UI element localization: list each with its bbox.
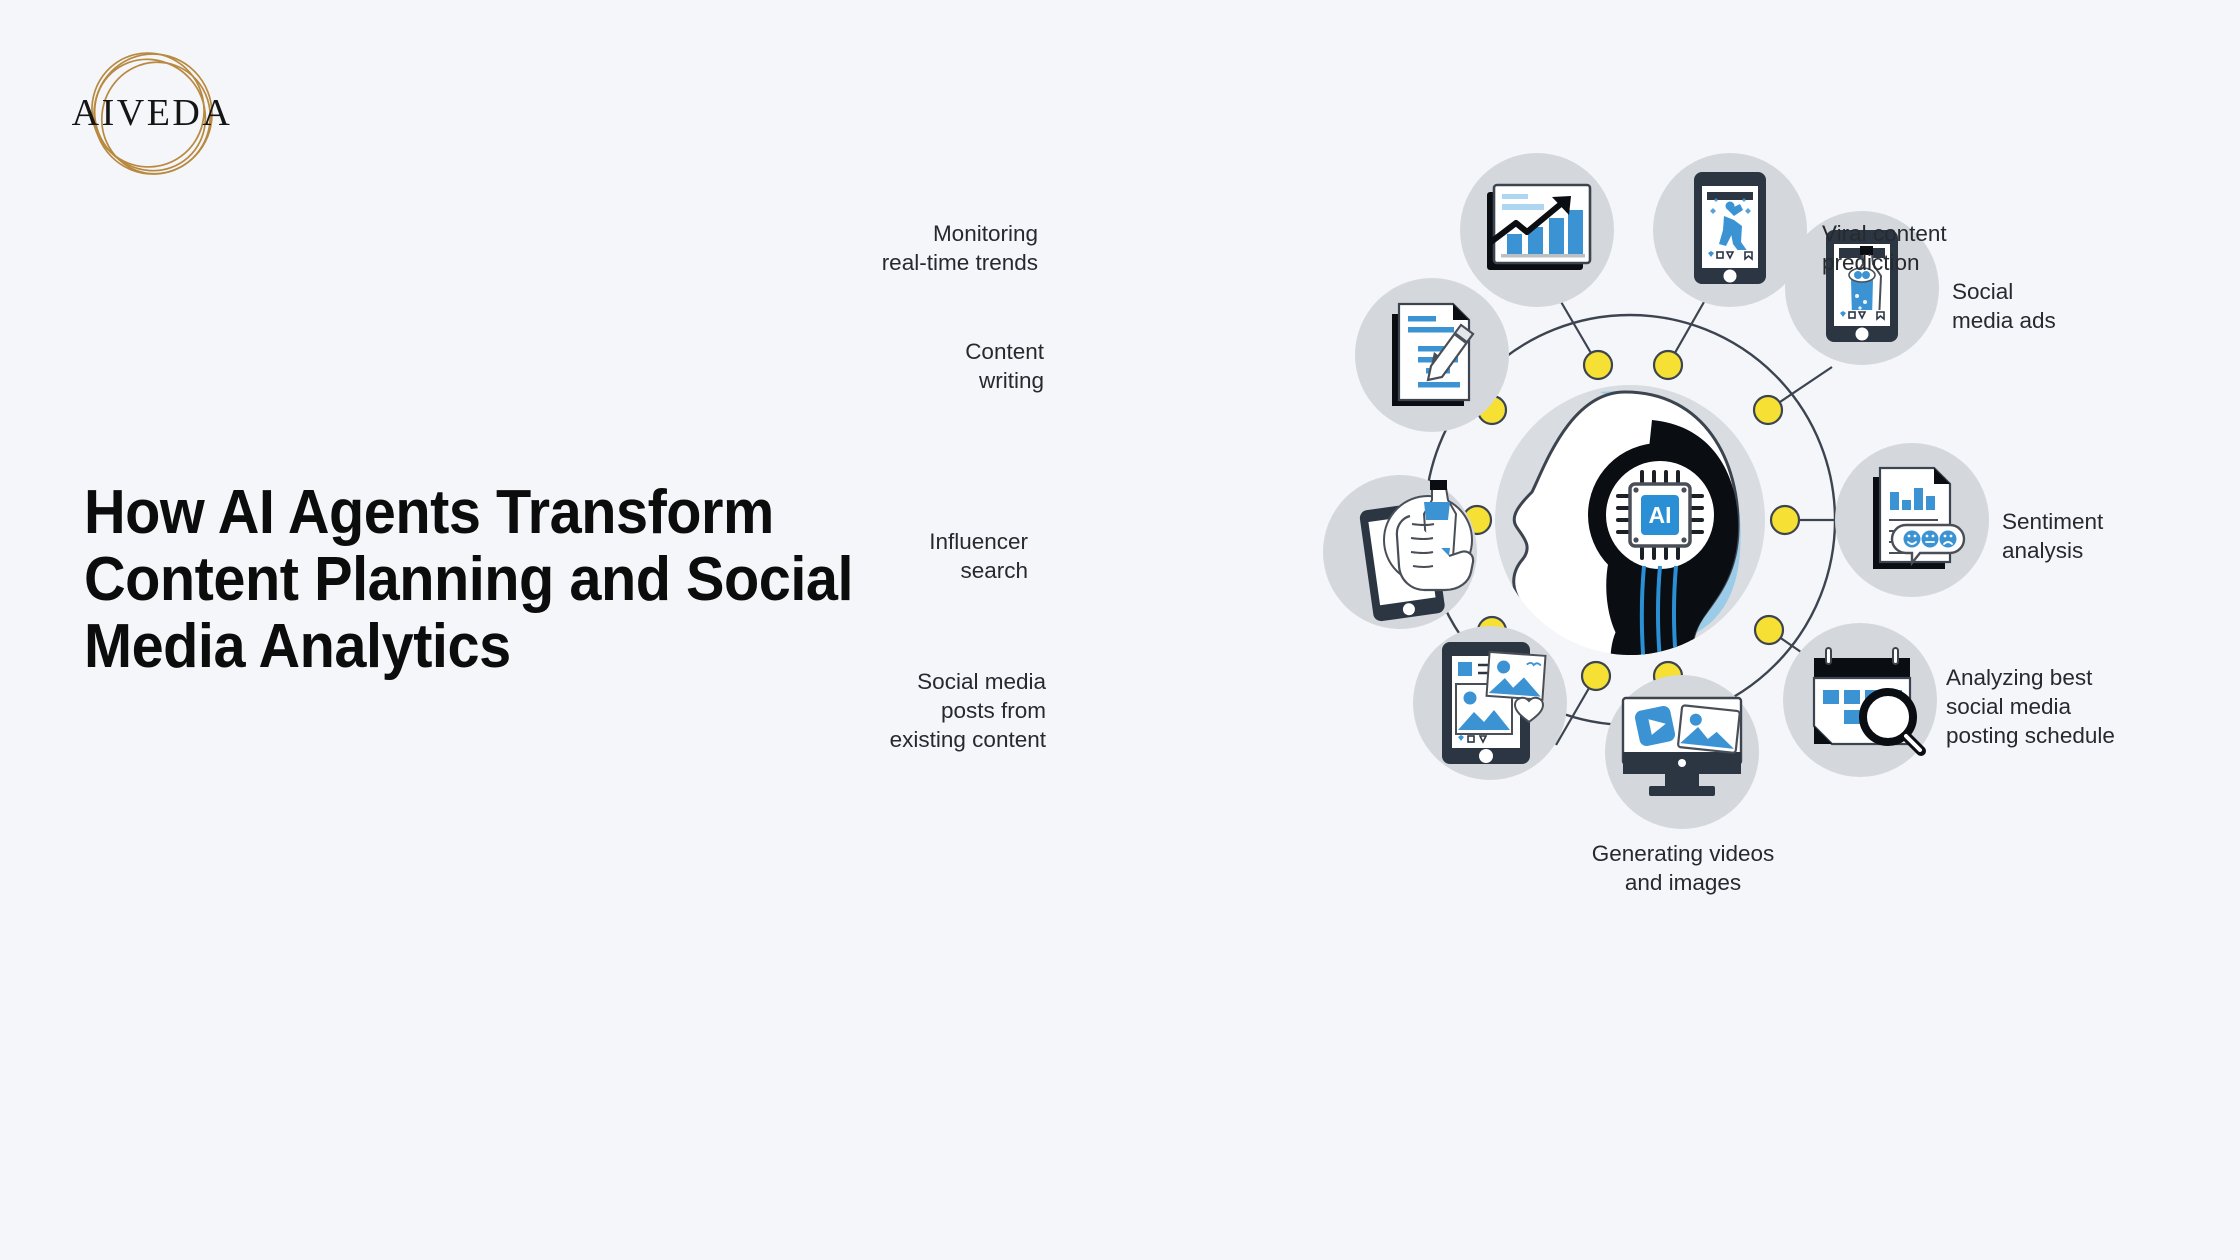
ring-dot[interactable] xyxy=(1755,616,1783,644)
node-icon-analyzing-best-posting-schedule[interactable] xyxy=(1783,623,1937,777)
node-label-social-media-ads: Social media ads xyxy=(1952,278,2182,336)
node-icon-sentiment-analysis[interactable] xyxy=(1835,443,1989,597)
node-icon-viral-content-prediction[interactable] xyxy=(1653,153,1807,307)
aiveda-logo[interactable]: AIVEDA xyxy=(62,40,242,195)
ring-dot[interactable] xyxy=(1771,506,1799,534)
ring-dot[interactable] xyxy=(1654,351,1682,379)
node-label-viral-content-prediction: Viral content prediction xyxy=(1822,220,2052,278)
node-icon-influencer-search[interactable] xyxy=(1323,475,1477,629)
node-label-sentiment-analysis: Sentiment analysis xyxy=(2002,508,2232,566)
ring-dot[interactable] xyxy=(1584,351,1612,379)
node-icon-monitoring-real-time-trends[interactable] xyxy=(1460,153,1614,307)
node-label-analyzing-best-posting-schedule: Analyzing best social media posting sche… xyxy=(1946,664,2196,750)
node-label-social-media-posts-existing: Social media posts from existing content xyxy=(774,668,1046,754)
logo-wordmark: AIVEDA xyxy=(72,92,233,134)
ai-chip-icon: AI xyxy=(1618,472,1702,558)
node-icon-social-media-posts-existing[interactable] xyxy=(1413,626,1567,780)
node-icon-content-writing[interactable] xyxy=(1355,278,1509,432)
poster-canvas: AIVEDA How AI Agents Transform Content P… xyxy=(0,0,2240,1260)
node-label-generating-videos-and-images: Generating videos and images xyxy=(1552,840,1814,898)
ai-capabilities-hub-diagram: AI xyxy=(1040,120,2220,1120)
node-icon-generating-videos-and-images[interactable] xyxy=(1605,675,1759,829)
ring-dot[interactable] xyxy=(1582,662,1610,690)
svg-text:AI: AI xyxy=(1649,502,1672,528)
node-label-content-writing: Content writing xyxy=(748,338,1044,396)
node-label-monitoring-real-time-trends: Monitoring real-time trends xyxy=(826,220,1038,278)
ring-dot[interactable] xyxy=(1754,396,1782,424)
node-label-influencer-search: Influencer search xyxy=(714,528,1028,586)
